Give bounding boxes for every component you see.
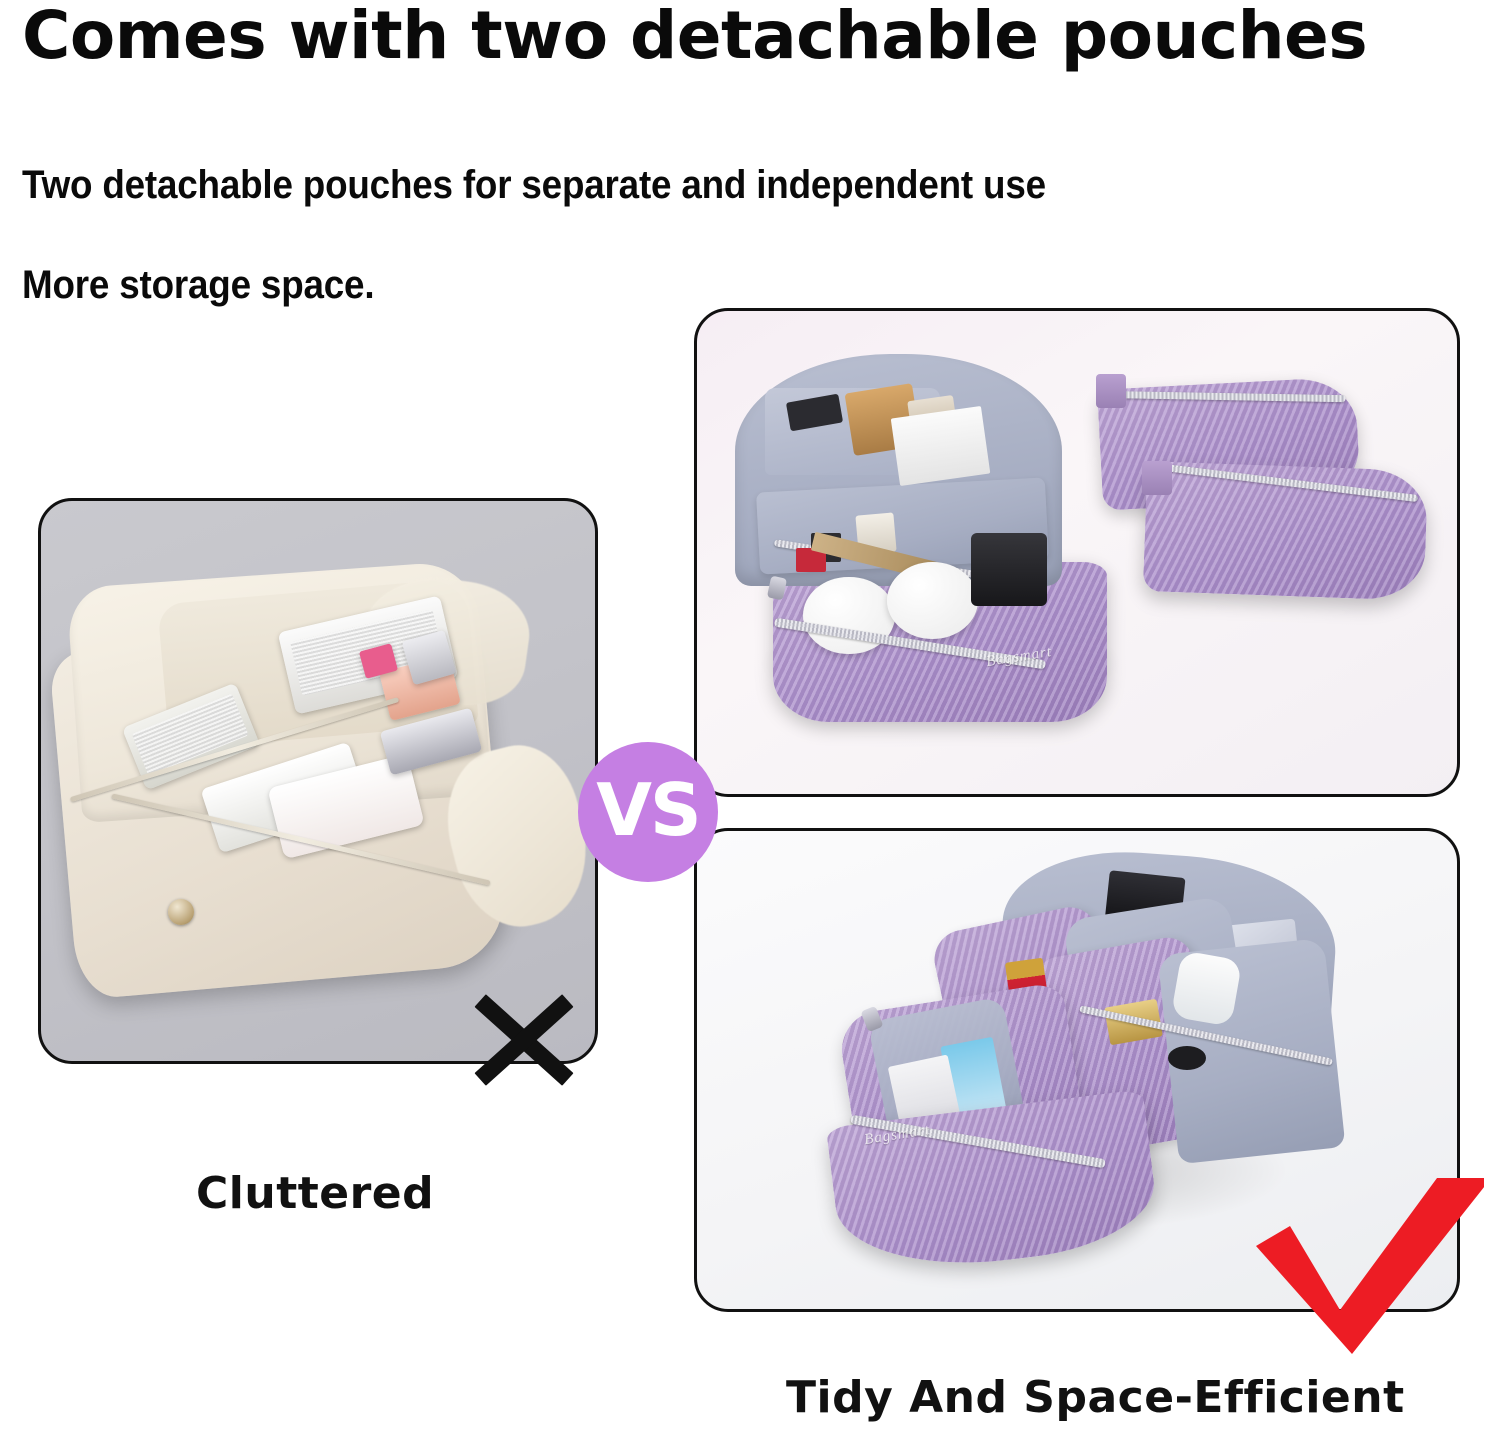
subheading-line-1: Two detachable pouches for separate and … [22,163,1046,208]
negative-caption: Cluttered [196,1168,434,1219]
positive-caption: Tidy And Space-Efficient [786,1372,1405,1423]
black-cylinder [971,533,1047,605]
page-title: Comes with two detachable pouches [22,0,1482,74]
tidy-bag-with-pouches-photo: Bagsmart [694,308,1460,797]
subheading-line-2: More storage space. [22,263,374,308]
pouch-zipper [1156,463,1419,502]
vs-badge: VS [578,742,718,882]
pouch-1-tab [1096,374,1126,408]
pouch-zipper [1108,391,1346,402]
check-mark-icon [1248,1178,1484,1358]
product-infographic: Comes with two detachable pouches Two de… [0,0,1500,1444]
snap-button [168,899,194,925]
vs-badge-label: VS [596,774,700,846]
pouch-2-tab [1142,461,1172,495]
white-lotion-bottle [1170,950,1241,1026]
white-box [890,406,990,486]
small-black-jar [1168,1046,1206,1070]
cluttered-bag-photo [38,498,598,1064]
x-mark-icon [472,992,576,1088]
white-cream-jar-2 [887,562,978,639]
detachable-pouch-2 [1143,461,1429,601]
